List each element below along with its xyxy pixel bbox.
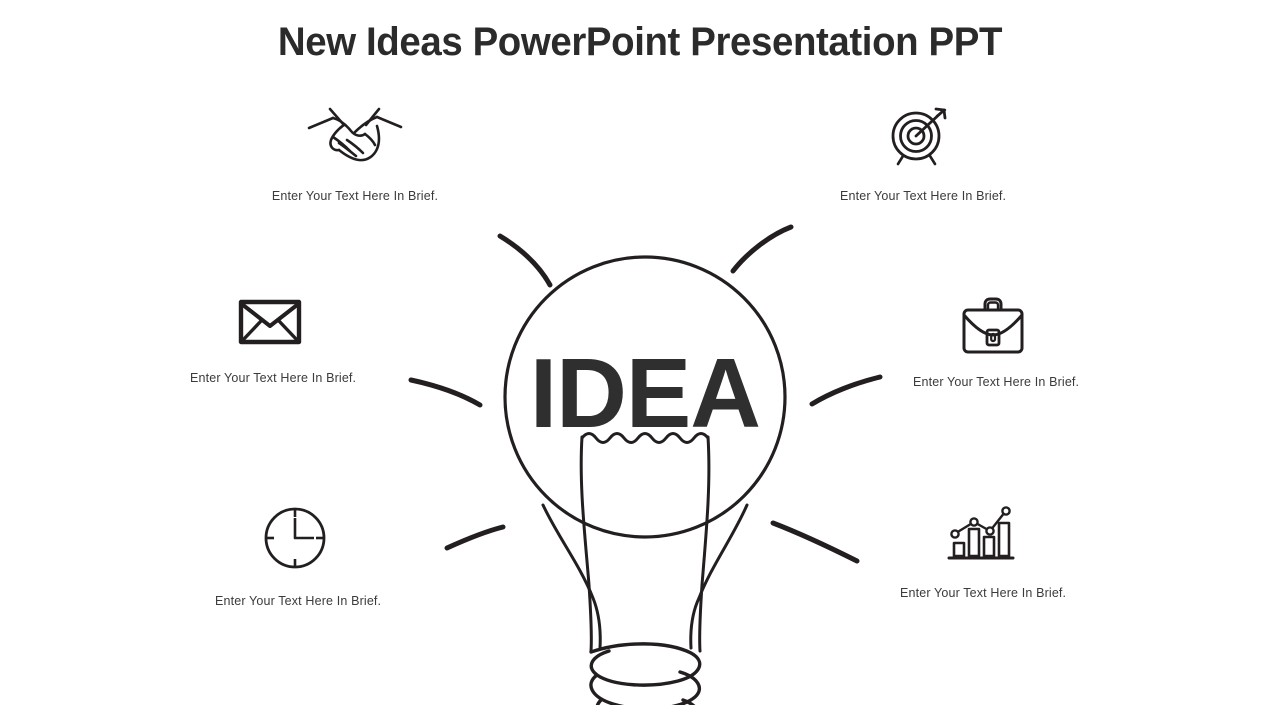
- feature-label-target: Enter Your Text Here In Brief.: [840, 188, 1000, 204]
- feature-label-handshake: Enter Your Text Here In Brief.: [255, 188, 455, 204]
- handshake-icon: [303, 104, 407, 166]
- feature-item-handshake[interactable]: Enter Your Text Here In Brief.: [255, 104, 455, 204]
- bulb-base-coil-1: [591, 644, 700, 685]
- bar-chart-growth-icon: [945, 503, 1015, 563]
- feature-item-mail[interactable]: Enter Your Text Here In Brief.: [190, 296, 350, 386]
- bulb-center-label: IDEA: [530, 338, 760, 448]
- feature-label-clock: Enter Your Text Here In Brief.: [215, 593, 375, 609]
- ray-top-left: [500, 236, 550, 285]
- feature-item-target[interactable]: Enter Your Text Here In Brief.: [840, 104, 1000, 204]
- feature-item-clock[interactable]: Enter Your Text Here In Brief.: [215, 505, 375, 609]
- ray-middle-left: [411, 380, 480, 405]
- slide-canvas: New Ideas PowerPoint Presentation PPT: [0, 0, 1280, 720]
- ray-middle-right: [812, 377, 880, 404]
- feature-label-mail: Enter Your Text Here In Brief.: [190, 370, 350, 386]
- feature-item-briefcase[interactable]: Enter Your Text Here In Brief.: [913, 296, 1073, 390]
- bulb-neck-left: [581, 437, 591, 651]
- target-arrow-icon: [885, 104, 955, 166]
- light-bulb-icon: IDEA: [395, 205, 895, 705]
- feature-item-chart[interactable]: Enter Your Text Here In Brief.: [900, 503, 1060, 601]
- briefcase-icon: [958, 296, 1028, 356]
- page-title: New Ideas PowerPoint Presentation PPT: [26, 20, 1255, 65]
- envelope-icon: [237, 296, 303, 348]
- ray-top-right: [733, 227, 791, 271]
- ray-bottom-left: [447, 527, 503, 548]
- feature-label-briefcase: Enter Your Text Here In Brief.: [913, 374, 1073, 390]
- clock-icon: [262, 505, 328, 571]
- feature-label-chart: Enter Your Text Here In Brief.: [900, 585, 1060, 601]
- ray-bottom-right: [773, 523, 857, 561]
- light-bulb-graphic: IDEA: [395, 205, 895, 705]
- bulb-neck-right: [700, 437, 709, 651]
